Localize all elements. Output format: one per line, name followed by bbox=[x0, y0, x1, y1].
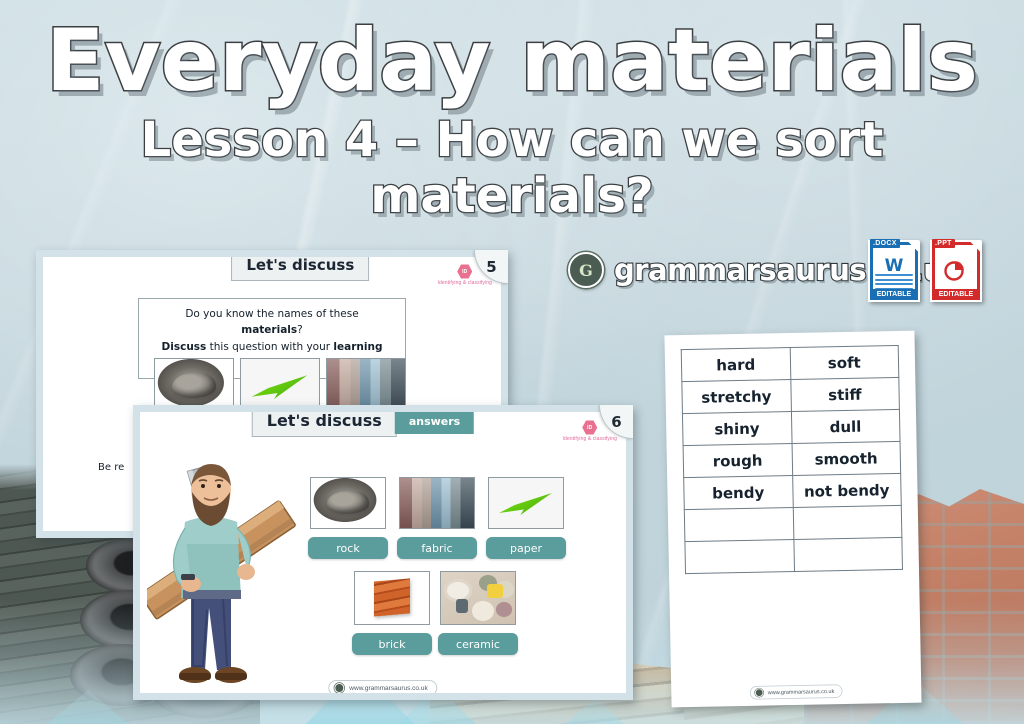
word-cell: hard bbox=[681, 348, 790, 382]
grammarsaurus-logo-icon bbox=[755, 688, 764, 697]
slide5-question-line-1: Do you know the names of these materials… bbox=[153, 306, 391, 339]
slide5-header-group: Let's discuss bbox=[231, 250, 369, 281]
wordcard-footer: www.grammarsaurus.co.uk bbox=[750, 684, 843, 699]
slide6-photo-ceramic bbox=[440, 571, 516, 625]
slide6-label-rock[interactable]: rock bbox=[308, 537, 388, 559]
table-row bbox=[684, 505, 902, 541]
slide5-header-title: Let's discuss bbox=[231, 250, 369, 281]
logo-letter: G bbox=[579, 261, 593, 280]
grammarsaurus-logo-icon: G bbox=[568, 252, 604, 288]
slide-6[interactable]: Let's discuss answers ID Identifying & c… bbox=[133, 405, 633, 700]
classification-hex-icon: ID bbox=[582, 420, 597, 435]
table-row: hardsoft bbox=[681, 345, 899, 381]
file-format-badges: .DOCX W EDITABLE .PPT EDITABLE bbox=[868, 240, 982, 302]
word-cell: stretchy bbox=[682, 380, 791, 414]
builder-illustration bbox=[147, 448, 297, 696]
slide6-photo-brick bbox=[354, 571, 430, 625]
word-cell: rough bbox=[683, 444, 792, 478]
powerpoint-ppt-badge[interactable]: .PPT EDITABLE bbox=[930, 240, 982, 302]
word-cell-empty bbox=[793, 537, 902, 571]
word-cell: not bendy bbox=[792, 473, 901, 507]
word-cell: dull bbox=[791, 409, 900, 443]
table-row: roughsmooth bbox=[683, 441, 901, 477]
slide6-footer: www.grammarsaurus.co.uk bbox=[328, 680, 437, 696]
slide6-answers-tag[interactable]: answers bbox=[395, 409, 474, 434]
slide6-photo-rock bbox=[310, 477, 386, 529]
table-row: bendynot bendy bbox=[684, 473, 902, 509]
word-cell: shiny bbox=[682, 412, 791, 446]
slide6-header-group: Let's discuss answers bbox=[252, 405, 474, 437]
word-icon: W bbox=[868, 256, 920, 276]
table-row: stretchystiff bbox=[682, 377, 900, 413]
word-cell-empty bbox=[685, 539, 794, 573]
docx-extension-label: .DOCX bbox=[870, 239, 900, 248]
pie-chart-icon bbox=[943, 258, 967, 282]
word-cell: stiff bbox=[790, 377, 899, 411]
property-words-table: hardsoft stretchystiff shinydull roughsm… bbox=[681, 345, 903, 574]
slide6-label-ceramic[interactable]: ceramic bbox=[438, 633, 518, 655]
table-row: shinydull bbox=[682, 409, 900, 445]
slide6-label-brick[interactable]: brick bbox=[352, 633, 432, 655]
slide5-bottom-text: Be re bbox=[98, 462, 124, 473]
slide6-label-paper[interactable]: paper bbox=[486, 537, 566, 559]
classification-hex-icon: ID bbox=[457, 264, 472, 279]
poster-stage: Everyday materials Lesson 4 – How can we… bbox=[0, 0, 1024, 724]
slide6-label-fabric[interactable]: fabric bbox=[397, 537, 477, 559]
slide6-footer-text: www.grammarsaurus.co.uk bbox=[349, 685, 427, 692]
word-docx-badge[interactable]: .DOCX W EDITABLE bbox=[868, 240, 920, 302]
grammarsaurus-logo-icon bbox=[334, 683, 344, 693]
word-cell: soft bbox=[790, 345, 899, 379]
word-cell-empty bbox=[684, 508, 793, 542]
docx-editable-label: EDITABLE bbox=[871, 289, 917, 299]
slide6-header-title: Let's discuss bbox=[252, 405, 397, 437]
word-cell: smooth bbox=[792, 441, 901, 475]
slide5-stamp-text: Identifying & classifying bbox=[438, 280, 492, 286]
ppt-editable-label: EDITABLE bbox=[933, 289, 979, 299]
ppt-extension-label: .PPT bbox=[932, 239, 955, 248]
property-words-worksheet[interactable]: hardsoft stretchystiff shinydull roughsm… bbox=[664, 331, 921, 708]
slide6-photo-fabric bbox=[399, 477, 475, 529]
slide6-stamp-text: Identifying & classifying bbox=[563, 436, 617, 442]
table-row bbox=[685, 537, 903, 573]
word-cell-empty bbox=[793, 505, 902, 539]
wordcard-footer-text: www.grammarsaurus.co.uk bbox=[768, 688, 835, 695]
word-cell: bendy bbox=[684, 476, 793, 510]
slide6-photo-paper-plane bbox=[488, 477, 564, 529]
